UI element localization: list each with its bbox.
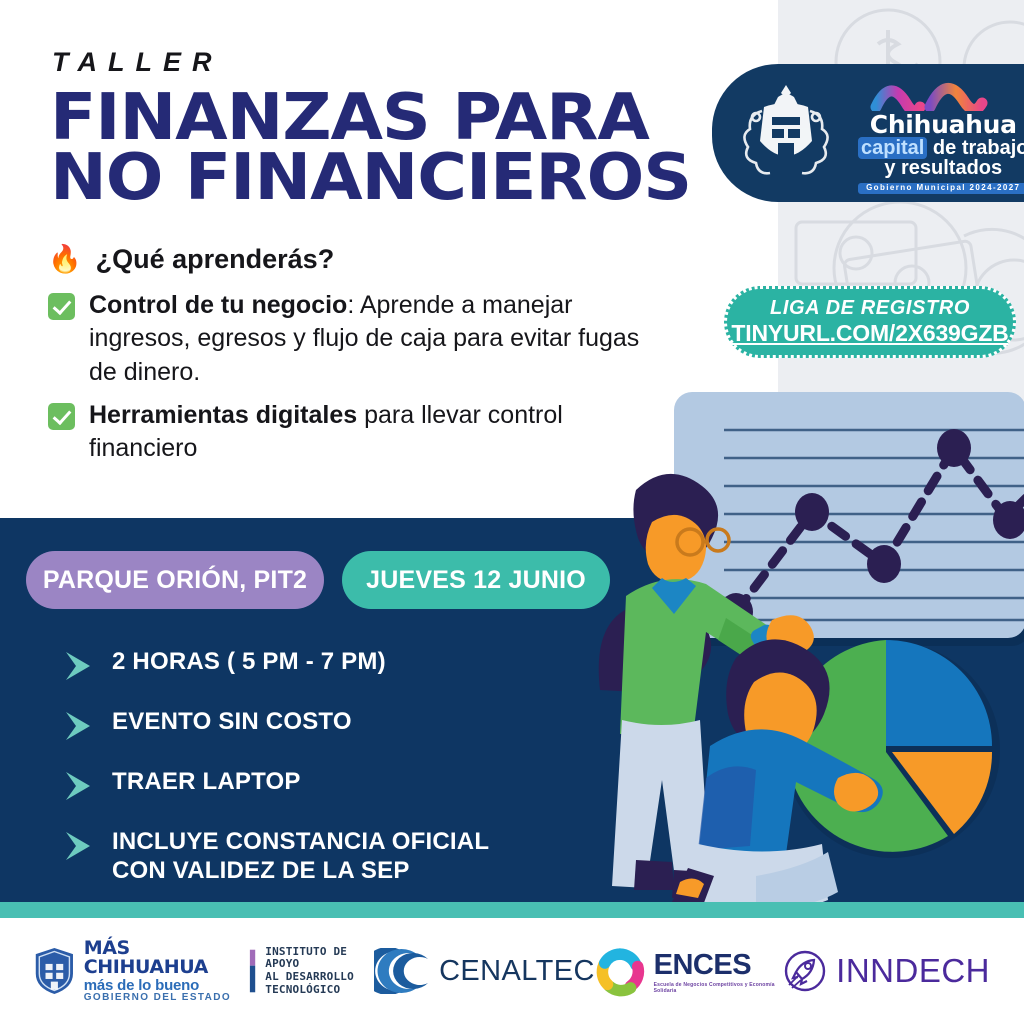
list-item: EVENTO SIN COSTO xyxy=(62,708,582,742)
inndech-logo: INNDECH xyxy=(783,949,990,993)
footer-logos: MÁS CHIHUAHUA más de lo bueno GOBIERNO D… xyxy=(0,918,1024,1024)
cenaltec-mark-icon xyxy=(374,948,430,994)
cenaltec-logo: CENALTEC xyxy=(374,948,595,994)
detail-text: 2 HORAS ( 5 PM - 7 PM) xyxy=(112,648,386,677)
ences-text: ENCES xyxy=(654,949,784,982)
badge-capital-highlight: capital xyxy=(858,137,927,159)
badge-gob-wrap: Gobierno Municipal 2024-2027 xyxy=(858,178,1024,194)
chihuahua-badge: Chihuahua capital de trabajo y resultado… xyxy=(712,64,1024,202)
mc-line-2: más de lo bueno xyxy=(84,978,240,993)
badge-government-label: Gobierno Municipal 2024-2027 xyxy=(858,183,1024,193)
check-icon xyxy=(48,403,75,430)
poster-root: TALLER FINANZAS PARA NO FINANCIEROS xyxy=(0,0,1024,1024)
page-title: FINANZAS PARA NO FINANCIEROS xyxy=(50,88,728,208)
learn-item-bold: Herramientas digitales xyxy=(89,401,357,429)
list-item: INCLUYE CONSTANCIA OFICIAL CON VALIDEZ D… xyxy=(62,828,582,886)
badge-name: Chihuahua xyxy=(858,112,1024,138)
registration-link-pill[interactable]: LIGA DE REGISTRO TINYURL.COM/2X639GZB xyxy=(724,286,1016,358)
list-item: Control de tu negocio: Aprende a manejar… xyxy=(48,289,648,389)
ences-text-block: ENCES Escuela de Negocios Competitivos y… xyxy=(654,949,784,994)
coat-of-arms-icon xyxy=(738,77,834,189)
check-icon xyxy=(48,293,75,320)
venue-pill: PARQUE ORIÓN, PIT2 xyxy=(26,551,324,609)
chevron-right-icon xyxy=(62,650,96,682)
list-item: 2 HORAS ( 5 PM - 7 PM) xyxy=(62,648,582,682)
badge-line-2: capital de trabajo xyxy=(858,138,1024,158)
ences-mark-icon xyxy=(595,944,645,998)
learn-item-bold: Control de tu negocio xyxy=(89,291,347,319)
title-line-2: NO FINANCIEROS xyxy=(50,148,728,208)
event-details-list: 2 HORAS ( 5 PM - 7 PM) EVENTO SIN COSTO … xyxy=(62,648,582,912)
registration-label: LIGA DE REGISTRO xyxy=(770,297,970,320)
iadt-text: INSTITUTO DE APOYO AL DESARROLLO TECNOLÓ… xyxy=(265,946,374,997)
badge-line-3: y resultados xyxy=(858,158,1024,178)
chevron-right-icon xyxy=(62,770,96,802)
iadt-line-2: AL DESARROLLO xyxy=(265,971,374,984)
detail-text: INCLUYE CONSTANCIA OFICIAL CON VALIDEZ D… xyxy=(112,828,489,886)
mas-chihuahua-text: MÁS CHIHUAHUA más de lo bueno GOBIERNO D… xyxy=(84,939,240,1003)
chevron-right-icon xyxy=(62,830,96,862)
inndech-text: INNDECH xyxy=(836,952,990,990)
learn-heading-row: 🔥 ¿Qué aprenderás? xyxy=(48,244,648,275)
ences-logo: ENCES Escuela de Negocios Competitivos y… xyxy=(595,944,783,998)
list-item: TRAER LAPTOP xyxy=(62,768,582,802)
teal-divider-strip xyxy=(0,902,1024,918)
registration-url[interactable]: TINYURL.COM/2X639GZB xyxy=(731,320,1008,347)
mas-chihuahua-logo: MÁS CHIHUAHUA más de lo bueno GOBIERNO D… xyxy=(34,939,374,1003)
logo-divider-icon xyxy=(249,947,256,995)
fire-icon: 🔥 xyxy=(48,246,82,273)
date-pill: JUEVES 12 JUNIO xyxy=(342,551,610,609)
ences-subtitle: Escuela de Negocios Competitivos y Econo… xyxy=(654,982,784,994)
rocket-icon xyxy=(783,949,827,993)
mc-line-3: GOBIERNO DEL ESTADO xyxy=(84,993,240,1003)
learn-item-text: Control de tu negocio: Aprende a manejar… xyxy=(89,289,648,389)
illustration xyxy=(540,390,1024,902)
iadt-line-3: TECNOLÓGICO xyxy=(265,984,374,997)
chihuahua-arc-icon xyxy=(868,71,1018,111)
detail-text: EVENTO SIN COSTO xyxy=(112,708,352,737)
badge-text: Chihuahua capital de trabajo y resultado… xyxy=(858,71,1024,195)
learn-heading: ¿Qué aprenderás? xyxy=(96,244,335,275)
mc-line-1: MÁS CHIHUAHUA xyxy=(84,939,240,978)
eyebrow-label: TALLER xyxy=(52,47,222,78)
iadt-line-1: INSTITUTO DE APOYO xyxy=(265,946,374,971)
cenaltec-text: CENALTEC xyxy=(439,955,595,988)
detail-text-line2: CON VALIDEZ DE LA SEP xyxy=(112,857,410,884)
chevron-right-icon xyxy=(62,710,96,742)
badge-line2-rest: de trabajo xyxy=(927,137,1024,159)
detail-text-line1: INCLUYE CONSTANCIA OFICIAL xyxy=(112,828,489,855)
detail-text: TRAER LAPTOP xyxy=(112,768,301,797)
state-shield-icon xyxy=(34,943,75,999)
